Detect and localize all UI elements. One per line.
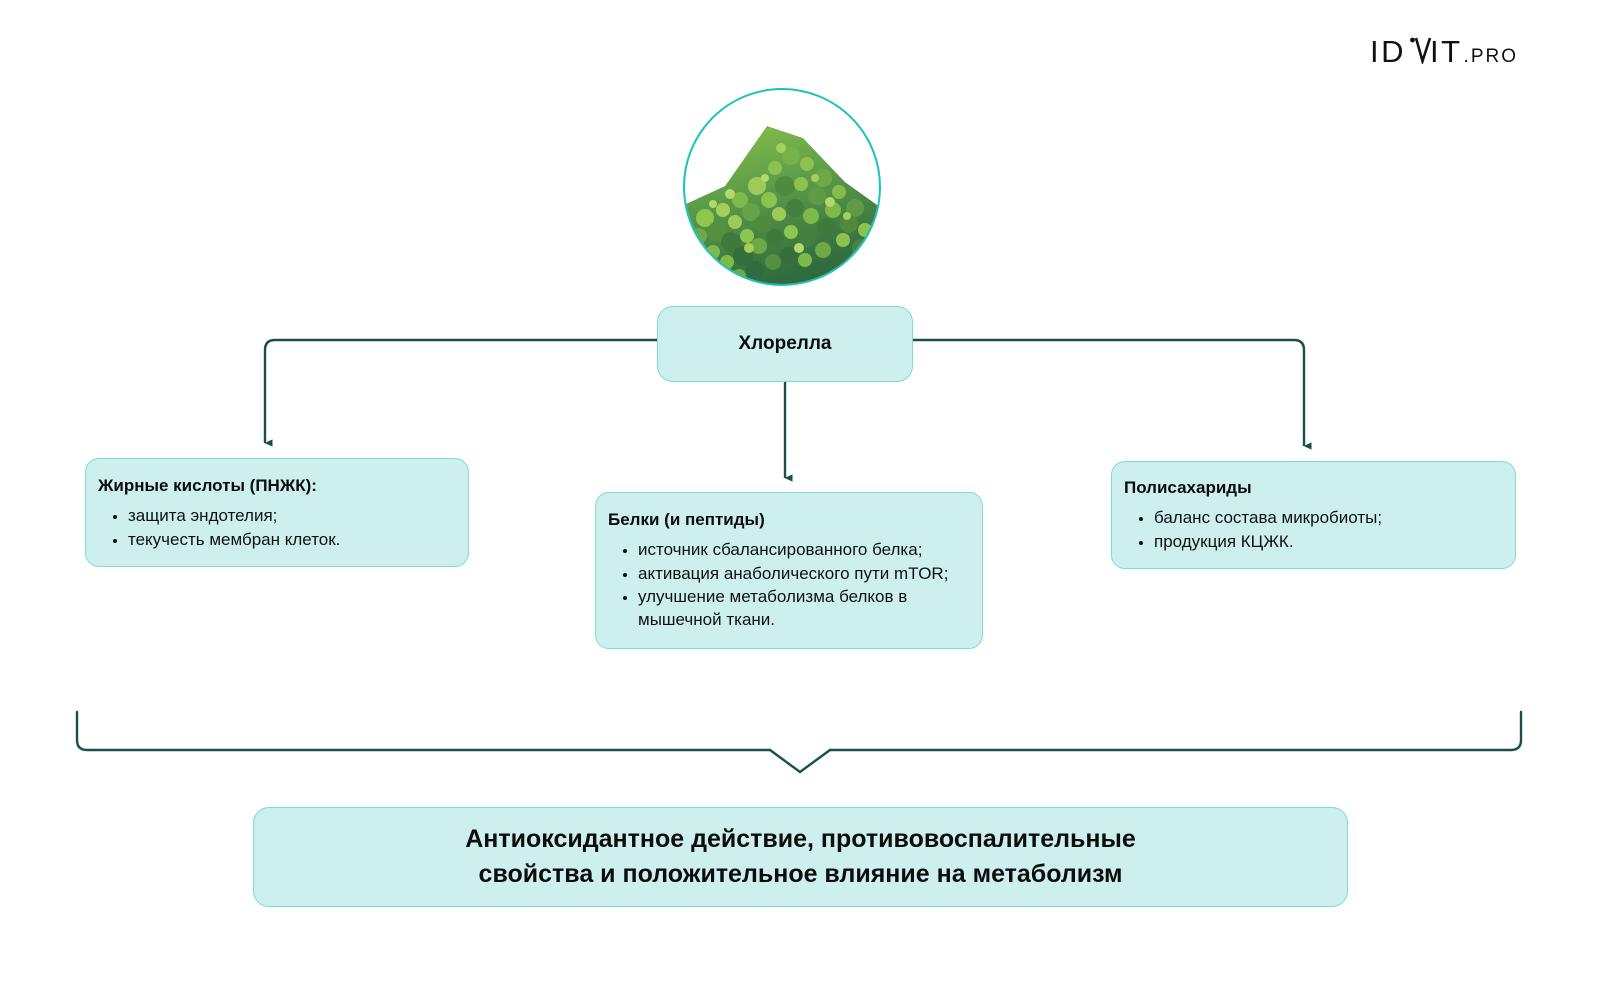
node-conclusion[interactable]: Антиоксидантное действие, противовоспали…	[253, 807, 1348, 907]
list-item: продукция КЦЖК.	[1154, 531, 1501, 553]
logo-domain-text: .PRO	[1464, 46, 1518, 68]
chlorella-heap-illustration	[685, 90, 879, 284]
list-item: баланс состава микробиоты;	[1154, 507, 1501, 529]
idvit-pro-logo: ID IT .PRO	[1370, 36, 1518, 68]
node-polysaccharides[interactable]: Полисахариды баланс состава микробиоты; …	[1111, 461, 1516, 569]
node-polysaccharides-title: Полисахариды	[1124, 477, 1501, 498]
node-proteins[interactable]: Белки (и пептиды) источник сбалансирован…	[595, 492, 983, 649]
list-item: активация анаболического пути mTOR;	[638, 563, 968, 585]
list-item: защита эндотелия;	[128, 505, 452, 527]
node-fatty-acids-list: защита эндотелия; текучесть мембран клет…	[98, 505, 452, 551]
node-chlorella-root[interactable]: Хлорелла	[657, 306, 913, 382]
node-fatty-acids-title: Жирные кислоты (ПНЖК):	[98, 475, 452, 496]
node-fatty-acids[interactable]: Жирные кислоты (ПНЖК): защита эндотелия;…	[85, 458, 469, 567]
connector-bracket-to-conclusion	[77, 712, 1521, 772]
node-proteins-title: Белки (и пептиды)	[608, 509, 968, 530]
logo-prefix-text: ID	[1370, 36, 1406, 67]
chlorella-powder-image	[683, 88, 881, 286]
node-root-label: Хлорелла	[739, 333, 832, 355]
node-conclusion-line-1: Антиоксидантное действие, противовоспали…	[465, 825, 1135, 853]
node-polysaccharides-list: баланс состава микробиоты; продукция КЦЖ…	[1124, 507, 1501, 553]
list-item: улучшение метаболизма белков в мышечной …	[638, 586, 968, 631]
list-item: текучесть мембран клеток.	[128, 529, 452, 551]
connector-root-to-fatty-acids	[265, 340, 657, 443]
logo-wordmark: ID IT	[1370, 36, 1463, 67]
connector-root-to-polysaccharides	[913, 340, 1304, 446]
node-conclusion-line-2: свойства и положительное влияние на мета…	[479, 860, 1123, 888]
node-proteins-list: источник сбалансированного белка; актива…	[608, 539, 968, 631]
list-item: источник сбалансированного белка;	[638, 539, 968, 561]
node-conclusion-text: Антиоксидантное действие, противовоспали…	[419, 822, 1181, 893]
logo-suffix-text: IT	[1430, 36, 1463, 67]
